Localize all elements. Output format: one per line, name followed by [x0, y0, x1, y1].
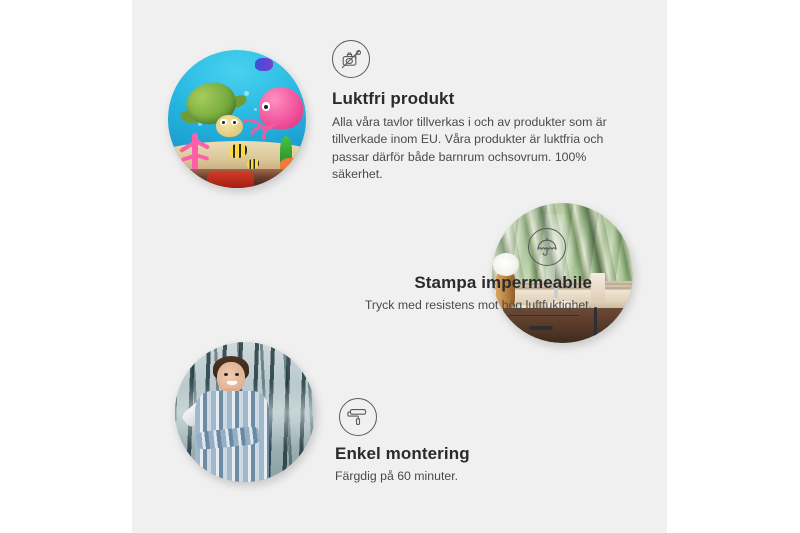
red-object: [207, 171, 254, 188]
feature-body: Tryck med resistens mot hög luftfuktighe…: [202, 297, 592, 314]
feature-body: Alla våra tavlor tillverkas i och av pro…: [332, 114, 632, 184]
feature-body: Färgdig på 60 minuter.: [335, 468, 635, 485]
feature-waterproof: Stampa impermeabile Tryck med resistens …: [202, 228, 592, 314]
striped-fish-icon: [229, 144, 247, 158]
icon-row: [335, 398, 635, 436]
feature-title: Luktfri produkt: [332, 89, 632, 109]
drawer-handle: [529, 326, 553, 330]
octopus-eye: [262, 102, 270, 110]
turtle-eye: [220, 119, 226, 125]
underwater-scene: [168, 50, 306, 188]
umbrella-icon: [528, 228, 566, 266]
feature-title: Enkel montering: [335, 444, 635, 464]
blue-fish-icon: [255, 58, 273, 70]
icon-row: [202, 228, 592, 266]
screenshot-root: Luktfri produkt Alla våra tavlor tillver…: [0, 0, 800, 533]
cabinet-handle: [594, 307, 598, 338]
content-panel: Luktfri produkt Alla våra tavlor tillver…: [132, 0, 667, 533]
feature-easy-mounting: Enkel montering Färgdig på 60 minuter.: [335, 398, 635, 485]
soap-dispenser-icon: [591, 273, 605, 301]
feature-odour-free: Luktfri produkt Alla våra tavlor tillver…: [332, 40, 632, 184]
striped-fish-icon: [247, 159, 259, 169]
turtle-eye: [231, 119, 237, 125]
painter-scene: [175, 342, 315, 482]
paint-roller-icon: [339, 398, 377, 436]
no-fragrance-icon: [332, 40, 370, 78]
turtle-head: [216, 115, 242, 137]
feature-title: Stampa impermeabile: [202, 273, 592, 293]
coral-icon: [176, 130, 215, 171]
image-painter-forest-wallpaper[interactable]: [175, 342, 315, 482]
image-underwater-kids-mural[interactable]: [168, 50, 306, 188]
